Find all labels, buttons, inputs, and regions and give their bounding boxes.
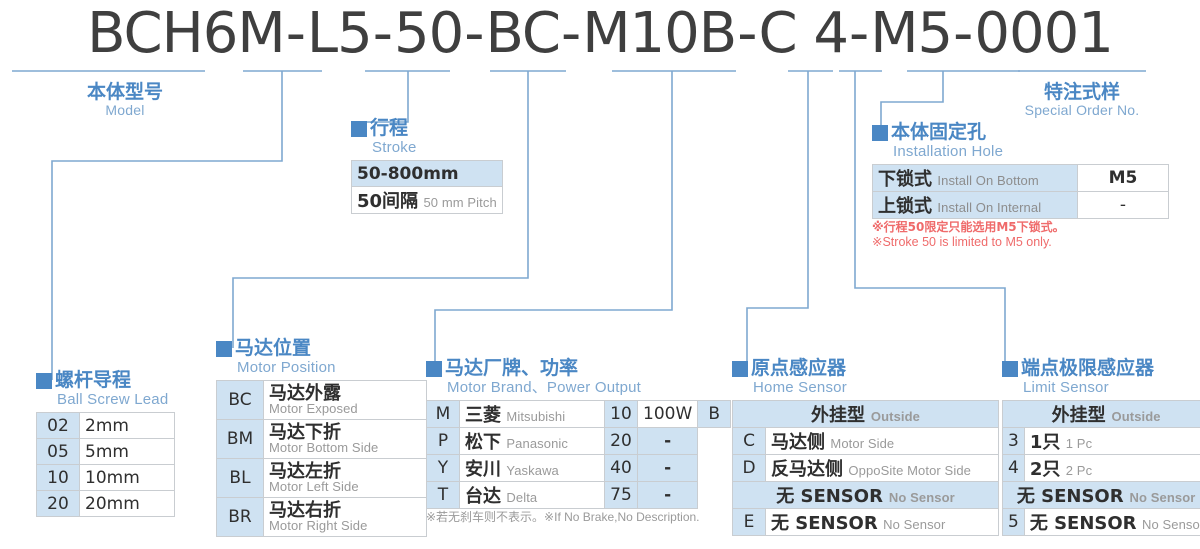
limit-sensor-subheader-nosensor: 无 SENSOR No Sensor xyxy=(1003,482,1200,509)
home-sensor-code[interactable]: C xyxy=(733,428,766,455)
home-sensor-subheader2-en: No Sensor xyxy=(889,490,955,505)
group-home-sensor-title-en: Home Sensor xyxy=(751,379,847,396)
power-code[interactable]: 75 xyxy=(605,482,638,509)
table-row[interactable]: BL 马达左折 Motor Left Side xyxy=(217,459,427,498)
limit-sensor-en: 2 Pc xyxy=(1066,463,1092,478)
limit-sensor-en: No Sensor xyxy=(1142,517,1200,532)
brand-name-cn: 三菱 xyxy=(465,405,501,426)
group-special-order: 特注式样 Special Order No. xyxy=(1012,82,1152,119)
group-motor-position-title-cn: 马达位置 xyxy=(235,337,311,359)
code-separator: - xyxy=(848,1,870,66)
group-motor-brand-power: 马达厂牌、功率 Motor Brand、Power Output M 三菱 Mi… xyxy=(426,358,731,524)
installation-hole-table: 下锁式 Install On Bottom M5 上锁式 Install On … xyxy=(872,164,1169,219)
power-code[interactable]: 10 xyxy=(605,401,638,428)
group-limit-sensor: 端点极限感应器 Limit Sensor 外挂型 Outside 3 1只 1 … xyxy=(1002,358,1200,536)
group-motor-position: 马达位置 Motor Position BC 马达外露 Motor Expose… xyxy=(216,338,427,537)
motor-position-en: Motor Left Side xyxy=(269,480,421,494)
motor-brand-power-table: M 三菱 Mitsubishi 10 100W B P 松下 Panasonic… xyxy=(426,400,731,509)
home-sensor-en: No Sensor xyxy=(883,517,945,532)
group-installation-hole-header: 本体固定孔 Installation Hole xyxy=(872,122,1169,160)
home-sensor-cn: 反马达侧 xyxy=(771,459,843,480)
brand-code[interactable]: Y xyxy=(427,455,460,482)
table-row: 外挂型 Outside xyxy=(733,401,999,428)
code-separator: - xyxy=(736,1,758,66)
table-row: 无 SENSOR No Sensor xyxy=(1003,482,1200,509)
motor-position-desc[interactable]: 马达右折 Motor Right Side xyxy=(264,498,427,537)
code-segment-installation-hole: M5 xyxy=(870,1,952,66)
table-row[interactable]: BR 马达右折 Motor Right Side xyxy=(217,498,427,537)
limit-sensor-code[interactable]: 4 xyxy=(1003,455,1025,482)
limit-sensor-cn: 1只 xyxy=(1030,432,1061,453)
brand-name-cell[interactable]: 三菱 Mitsubishi xyxy=(460,401,605,428)
table-row[interactable]: 50-800mm xyxy=(352,161,503,187)
group-motor-brand-power-title-cn: 马达厂牌、功率 xyxy=(445,357,578,379)
code-segment-stroke: 50 xyxy=(394,1,463,66)
motor-position-desc[interactable]: 马达左折 Motor Left Side xyxy=(264,459,427,498)
code-segment-sensors: C 4 xyxy=(758,1,848,66)
stroke-pitch-en: 50 mm Pitch xyxy=(423,195,496,210)
home-sensor-subheader2-cn: 无 SENSOR xyxy=(776,486,883,507)
brand-name-en: Panasonic xyxy=(506,436,568,451)
group-motor-position-title-en: Motor Position xyxy=(235,359,336,376)
code-separator: - xyxy=(372,1,394,66)
code-separator: - xyxy=(285,1,307,66)
install-bottom-cn: 下锁式 xyxy=(878,169,932,190)
group-ball-screw-lead: 螺杆导程 Ball Screw Lead 02 2mm 05 5mm 10 10… xyxy=(36,370,175,517)
table-row[interactable]: 下锁式 Install On Bottom M5 xyxy=(873,165,1169,192)
group-stroke-title-cn: 行程 xyxy=(370,117,408,139)
brand-code[interactable]: P xyxy=(427,428,460,455)
group-special-order-title-en: Special Order No. xyxy=(1012,102,1152,119)
stroke-pitch-cn: 50间隔 xyxy=(357,191,418,212)
motor-position-desc[interactable]: 马达外露 Motor Exposed xyxy=(264,381,427,420)
power-value[interactable]: - xyxy=(638,482,698,509)
brand-name-cell[interactable]: 松下 Panasonic xyxy=(460,428,605,455)
motor-position-code[interactable]: BM xyxy=(217,420,264,459)
group-motor-brand-power-header: 马达厂牌、功率 Motor Brand、Power Output xyxy=(426,358,731,396)
stroke-range-cell[interactable]: 50-800mm xyxy=(352,161,503,187)
bullet-square-icon xyxy=(36,373,52,389)
power-code[interactable]: 20 xyxy=(605,428,638,455)
power-value[interactable]: 100W xyxy=(638,401,698,428)
install-internal-value[interactable]: - xyxy=(1078,192,1169,219)
stroke-table: 50-800mm 50间隔 50 mm Pitch xyxy=(351,160,503,214)
code-separator: - xyxy=(463,1,485,66)
bullet-square-icon xyxy=(1002,361,1018,377)
limit-sensor-code[interactable]: 5 xyxy=(1003,509,1025,536)
group-limit-sensor-title-cn: 端点极限感应器 xyxy=(1021,357,1154,379)
motor-position-cn: 马达外露 xyxy=(269,385,421,402)
bullet-square-icon xyxy=(872,125,888,141)
home-sensor-subheader-nosensor: 无 SENSOR No Sensor xyxy=(733,482,999,509)
code-segment-motor-brand: M10B xyxy=(582,1,736,66)
brake-code-empty xyxy=(698,482,731,509)
table-row[interactable]: 上锁式 Install On Internal - xyxy=(873,192,1169,219)
install-internal-en: Install On Internal xyxy=(937,200,1041,215)
table-row[interactable]: T 台达 Delta 75 - xyxy=(427,482,731,509)
motor-position-code[interactable]: BR xyxy=(217,498,264,537)
brand-code[interactable]: M xyxy=(427,401,460,428)
group-stroke-title-en: Stroke xyxy=(370,139,417,156)
group-special-order-title-cn: 特注式样 xyxy=(1012,82,1152,102)
group-motor-position-header: 马达位置 Motor Position xyxy=(216,338,427,376)
table-row: 无 SENSOR No Sensor xyxy=(733,482,999,509)
motor-brand-power-note: ※若无刹车则不表示。※If No Brake,No Description. xyxy=(426,510,731,524)
limit-sensor-table: 外挂型 Outside 3 1只 1 Pc 4 2只 2 Pc 无 SENSOR… xyxy=(1002,400,1200,536)
table-row[interactable]: 3 1只 1 Pc xyxy=(1003,428,1200,455)
motor-position-cn: 马达左折 xyxy=(269,463,421,480)
brand-name-en: Yaskawa xyxy=(506,463,558,478)
bullet-square-icon xyxy=(426,361,442,377)
ball-screw-lead-table: 02 2mm 05 5mm 10 10mm 20 20mm xyxy=(36,412,175,517)
motor-position-desc[interactable]: 马达下折 Motor Bottom Side xyxy=(264,420,427,459)
table-row[interactable]: E 无 SENSOR No Sensor xyxy=(733,509,999,536)
limit-sensor-subheader-en: Outside xyxy=(1112,409,1161,424)
group-limit-sensor-header: 端点极限感应器 Limit Sensor xyxy=(1002,358,1200,396)
table-row[interactable]: 20 20mm xyxy=(37,491,175,517)
motor-position-en: Motor Exposed xyxy=(269,402,421,416)
home-sensor-en: OppoSite Motor Side xyxy=(848,463,971,478)
group-home-sensor: 原点感应器 Home Sensor 外挂型 Outside C 马达侧 Moto… xyxy=(732,358,999,536)
code-separator: - xyxy=(560,1,582,66)
code-segment-motor-position: BC xyxy=(485,1,560,66)
limit-sensor-desc[interactable]: 2只 2 Pc xyxy=(1024,455,1200,482)
group-model-title-cn: 本体型号 xyxy=(30,82,220,102)
lead-value[interactable]: 20mm xyxy=(80,491,175,517)
group-installation-hole: 本体固定孔 Installation Hole 下锁式 Install On B… xyxy=(872,122,1169,249)
home-sensor-subheader-outside: 外挂型 Outside xyxy=(733,401,999,428)
part-number-code: BCH6M - L5 - 50 - BC - M10B - C 4 - M5 -… xyxy=(0,2,1200,64)
code-segment-special-order: 0001 xyxy=(974,1,1113,66)
brand-name-cell[interactable]: 台达 Delta xyxy=(460,482,605,509)
home-sensor-code[interactable]: D xyxy=(733,455,766,482)
limit-sensor-cn: 无 SENSOR xyxy=(1030,513,1137,534)
table-row[interactable]: 05 5mm xyxy=(37,439,175,465)
code-separator: - xyxy=(952,1,974,66)
group-ball-screw-lead-title-cn: 螺杆导程 xyxy=(55,369,131,391)
motor-position-en: Motor Right Side xyxy=(269,519,421,533)
lead-value[interactable]: 10mm xyxy=(80,465,175,491)
table-row[interactable]: M 三菱 Mitsubishi 10 100W B xyxy=(427,401,731,428)
table-row: 外挂型 Outside xyxy=(1003,401,1200,428)
installation-hole-note-en: ※Stroke 50 is limited to M5 only. xyxy=(872,235,1169,249)
home-sensor-subheader-en: Outside xyxy=(871,409,920,424)
lead-code[interactable]: 02 xyxy=(37,413,80,439)
motor-position-en: Motor Bottom Side xyxy=(269,441,421,455)
group-stroke: 行程 Stroke 50-800mm 50间隔 50 mm Pitch xyxy=(351,118,503,214)
brand-name-en: Delta xyxy=(506,490,537,505)
brand-name-cn: 台达 xyxy=(465,486,501,507)
lead-value[interactable]: 5mm xyxy=(80,439,175,465)
install-bottom-cell[interactable]: 下锁式 Install On Bottom xyxy=(873,165,1078,192)
group-ball-screw-lead-header: 螺杆导程 Ball Screw Lead xyxy=(36,370,175,408)
install-internal-cn: 上锁式 xyxy=(878,196,932,217)
table-row[interactable]: P 松下 Panasonic 20 - xyxy=(427,428,731,455)
bullet-square-icon xyxy=(216,341,232,357)
limit-sensor-subheader-outside: 外挂型 Outside xyxy=(1003,401,1200,428)
bullet-square-icon xyxy=(732,361,748,377)
table-row[interactable]: 4 2只 2 Pc xyxy=(1003,455,1200,482)
limit-sensor-en: 1 Pc xyxy=(1066,436,1092,451)
motor-position-cn: 马达右折 xyxy=(269,502,421,519)
limit-sensor-cn: 2只 xyxy=(1030,459,1061,480)
group-model: 本体型号 Model xyxy=(30,82,220,119)
code-segment-lead: L5 xyxy=(307,1,372,66)
table-row[interactable]: BC 马达外露 Motor Exposed xyxy=(217,381,427,420)
installation-hole-note-cn: ※行程50限定只能选用M5下锁式。 xyxy=(872,220,1169,234)
limit-sensor-desc[interactable]: 无 SENSOR No Sensor xyxy=(1024,509,1200,536)
table-row[interactable]: Y 安川 Yaskawa 40 - xyxy=(427,455,731,482)
brake-code-empty xyxy=(698,428,731,455)
group-installation-hole-title-cn: 本体固定孔 xyxy=(891,121,986,143)
home-sensor-desc[interactable]: 马达侧 Motor Side xyxy=(766,428,999,455)
group-installation-hole-title-en: Installation Hole xyxy=(891,143,1003,160)
group-limit-sensor-title-en: Limit Sensor xyxy=(1021,379,1154,396)
bullet-square-icon xyxy=(351,121,367,137)
home-sensor-desc[interactable]: 无 SENSOR No Sensor xyxy=(766,509,999,536)
install-bottom-en: Install On Bottom xyxy=(937,173,1038,188)
motor-position-code[interactable]: BC xyxy=(217,381,264,420)
table-row[interactable]: 5 无 SENSOR No Sensor xyxy=(1003,509,1200,536)
lead-value[interactable]: 2mm xyxy=(80,413,175,439)
brand-code[interactable]: T xyxy=(427,482,460,509)
group-motor-brand-power-title-en: Motor Brand、Power Output xyxy=(445,379,641,396)
table-row[interactable]: 02 2mm xyxy=(37,413,175,439)
lead-code[interactable]: 20 xyxy=(37,491,80,517)
install-bottom-value[interactable]: M5 xyxy=(1078,165,1169,192)
motor-position-code[interactable]: BL xyxy=(217,459,264,498)
lead-code[interactable]: 05 xyxy=(37,439,80,465)
limit-sensor-subheader2-en: No Sensor xyxy=(1130,490,1196,505)
group-model-title-en: Model xyxy=(30,102,220,119)
group-stroke-header: 行程 Stroke xyxy=(351,118,503,156)
home-sensor-cn: 无 SENSOR xyxy=(771,513,878,534)
brake-code[interactable]: B xyxy=(698,401,731,428)
brand-name-en: Mitsubishi xyxy=(506,409,565,424)
table-row[interactable]: 10 10mm xyxy=(37,465,175,491)
limit-sensor-subheader-cn: 外挂型 xyxy=(1052,405,1106,426)
lead-code[interactable]: 10 xyxy=(37,465,80,491)
motor-position-cn: 马达下折 xyxy=(269,424,421,441)
table-row[interactable]: BM 马达下折 Motor Bottom Side xyxy=(217,420,427,459)
home-sensor-table: 外挂型 Outside C 马达侧 Motor Side D 反马达侧 Oppo… xyxy=(732,400,999,536)
power-value[interactable]: - xyxy=(638,428,698,455)
limit-sensor-subheader2-cn: 无 SENSOR xyxy=(1017,486,1124,507)
motor-position-table: BC 马达外露 Motor Exposed BM 马达下折 Motor Bott… xyxy=(216,380,427,537)
home-sensor-cn: 马达侧 xyxy=(771,432,825,453)
group-home-sensor-header: 原点感应器 Home Sensor xyxy=(732,358,999,396)
limit-sensor-code[interactable]: 3 xyxy=(1003,428,1025,455)
power-value[interactable]: - xyxy=(638,455,698,482)
install-internal-cell[interactable]: 上锁式 Install On Internal xyxy=(873,192,1078,219)
table-row[interactable]: C 马达侧 Motor Side xyxy=(733,428,999,455)
brand-name-cn: 安川 xyxy=(465,459,501,480)
code-segment-model: BCH6M xyxy=(87,1,285,66)
brand-name-cell[interactable]: 安川 Yaskawa xyxy=(460,455,605,482)
brake-code-empty xyxy=(698,455,731,482)
group-home-sensor-title-cn: 原点感应器 xyxy=(751,357,846,379)
power-code[interactable]: 40 xyxy=(605,455,638,482)
table-row[interactable]: 50间隔 50 mm Pitch xyxy=(352,187,503,214)
limit-sensor-desc[interactable]: 1只 1 Pc xyxy=(1024,428,1200,455)
home-sensor-code[interactable]: E xyxy=(733,509,766,536)
table-row[interactable]: D 反马达侧 OppoSite Motor Side xyxy=(733,455,999,482)
group-ball-screw-lead-title-en: Ball Screw Lead xyxy=(55,391,168,408)
brand-name-cn: 松下 xyxy=(465,432,501,453)
stroke-pitch-cell[interactable]: 50间隔 50 mm Pitch xyxy=(352,187,503,214)
home-sensor-desc[interactable]: 反马达侧 OppoSite Motor Side xyxy=(766,455,999,482)
home-sensor-subheader-cn: 外挂型 xyxy=(811,405,865,426)
home-sensor-en: Motor Side xyxy=(830,436,894,451)
